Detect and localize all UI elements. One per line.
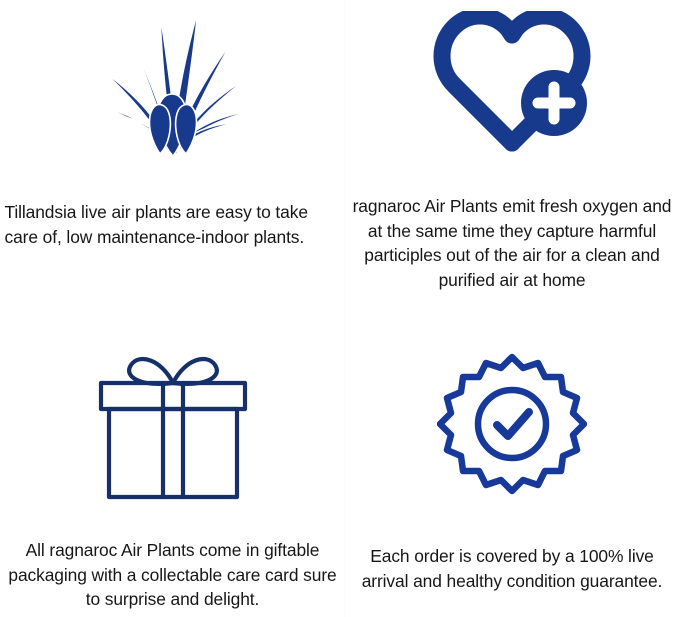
benefit-text: Tillandsia live air plants are easy to t… (2, 200, 344, 249)
benefit-card-fresh-oxygen: ragnaroc Air Plants emit fresh oxygen an… (345, 0, 679, 310)
benefit-text: Each order is covered by a 100% live arr… (347, 544, 677, 593)
guarantee-badge-icon (347, 338, 677, 514)
benefit-card-live-arrival-guarantee: Each order is covered by a 100% live arr… (345, 310, 679, 617)
benefit-text: ragnaroc Air Plants emit fresh oxygen an… (347, 194, 677, 293)
gift-box-icon (4, 342, 341, 512)
air-plant-icon (4, 2, 341, 162)
benefit-text: All ragnaroc Air Plants come in giftable… (4, 538, 341, 612)
heart-plus-icon (347, 8, 677, 162)
benefits-grid: Tillandsia live air plants are easy to t… (0, 0, 679, 617)
benefit-card-easy-care: Tillandsia live air plants are easy to t… (0, 0, 345, 310)
benefit-card-giftable-packaging: All ragnaroc Air Plants come in giftable… (0, 310, 345, 617)
